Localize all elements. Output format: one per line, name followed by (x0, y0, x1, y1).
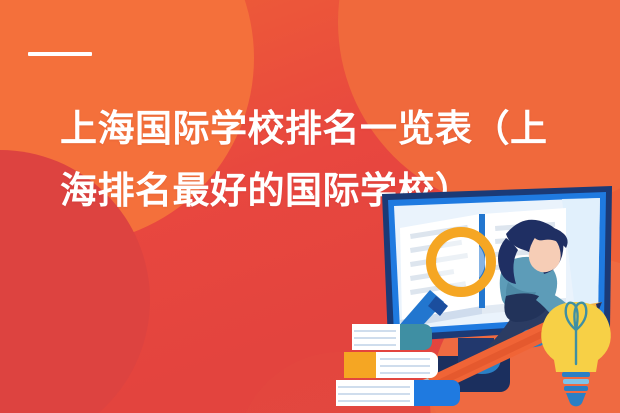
decorative-rule (28, 52, 92, 56)
illustration-svg (330, 178, 620, 413)
hero-illustration (330, 178, 620, 413)
banner-image: 上海国际学校排名一览表（上海排名最好的国际学校） (0, 0, 620, 413)
lightbulb-icon (541, 302, 611, 406)
